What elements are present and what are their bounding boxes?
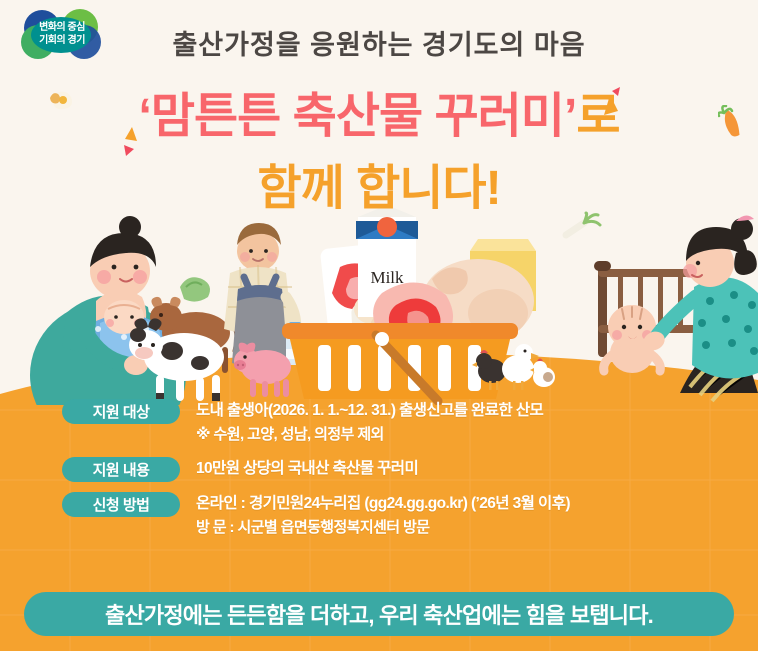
headline-line-1: ‘맘튼튼 축산물 꾸러미’로 bbox=[0, 88, 758, 146]
kicker-text: 출산가정을 응원하는 경기도의 마음 bbox=[0, 28, 758, 62]
info-block: 지원 대상 도내 출생아(2026. 1. 1.~12. 31.) 출생신고를 … bbox=[0, 398, 758, 549]
headline-suffix: 로 bbox=[576, 90, 619, 143]
info-row-text: 온라인 : 경기민원24누리집 (gg24.gg.go.kr) (’26년 3월… bbox=[196, 491, 570, 540]
headline-line-2: 함께 합니다! bbox=[0, 160, 758, 218]
info-row-main: 도내 출생아(2026. 1. 1.~12. 31.) 출생신고를 완료한 산모 bbox=[196, 402, 543, 419]
headline-quoted: ‘맘튼튼 축산물 꾸러미’ bbox=[139, 90, 577, 143]
info-row: 신청 방법 온라인 : 경기민원24누리집 (gg24.gg.go.kr) (’… bbox=[0, 491, 758, 540]
info-row-text: 도내 출생아(2026. 1. 1.~12. 31.) 출생신고를 완료한 산모… bbox=[196, 398, 543, 447]
info-label-pill: 신청 방법 bbox=[62, 492, 180, 517]
svg-text:Milk: Milk bbox=[370, 268, 404, 287]
bottom-slogan-banner: 출산가정에는 든든함을 더하고, 우리 축산업에는 힘을 보탭니다. bbox=[24, 592, 734, 636]
info-row-main[interactable]: 온라인 : 경기민원24누리집 (gg24.gg.go.kr) (’26년 3월… bbox=[196, 495, 570, 512]
info-row: 지원 대상 도내 출생아(2026. 1. 1.~12. 31.) 출생신고를 … bbox=[0, 398, 758, 447]
cabbage-icon bbox=[180, 277, 210, 301]
info-row: 지원 내용 10만원 상당의 국내산 축산물 꾸러미 bbox=[0, 456, 758, 482]
info-row-sub: 방 문 : 시군별 읍면동행정복지센터 방문 bbox=[196, 516, 570, 540]
info-row-text: 10만원 상당의 국내산 축산물 꾸러미 bbox=[196, 456, 418, 481]
info-label-pill: 지원 대상 bbox=[62, 399, 180, 424]
bottom-slogan-text: 출산가정에는 든든함을 더하고, 우리 축산업에는 힘을 보탭니다. bbox=[105, 598, 653, 630]
chick bbox=[530, 359, 555, 388]
info-label-pill: 지원 내용 bbox=[62, 457, 180, 482]
info-row-sub: ※ 수원, 고양, 성남, 의정부 제외 bbox=[196, 423, 543, 447]
info-row-main: 10만원 상당의 국내산 축산물 꾸러미 bbox=[196, 460, 418, 477]
illustration-scene: Milk bbox=[0, 205, 758, 405]
poster-root: Milk bbox=[0, 0, 758, 651]
